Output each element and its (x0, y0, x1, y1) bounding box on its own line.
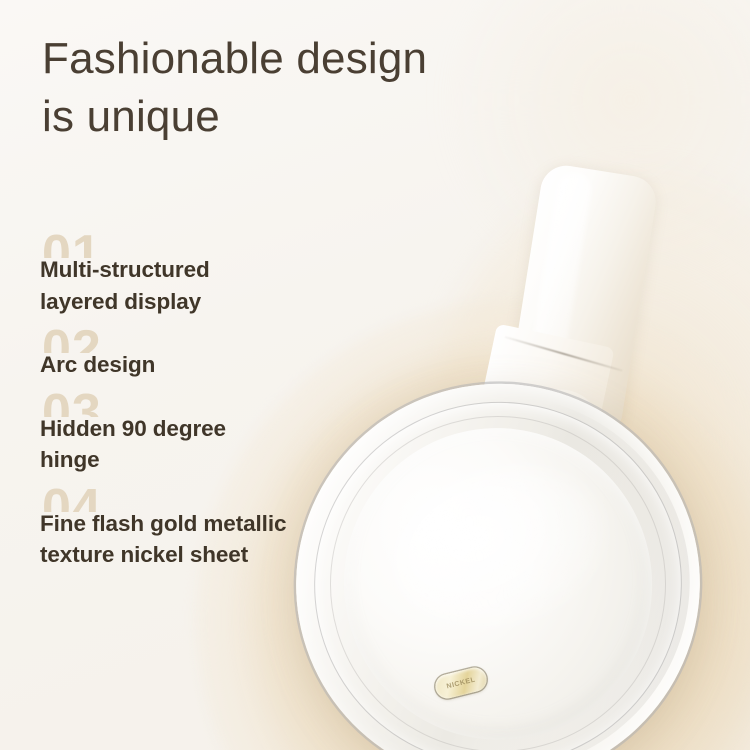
feature-text-03: Hidden 90 degree hinge (40, 387, 370, 476)
product-feature-poster: NICKEL Fashionable design is unique 01 M… (0, 0, 750, 750)
feature-item-04: 04 Fine flash gold metallic texture nick… (40, 482, 370, 571)
feature-item-01: 01 Multi-structured layered display (40, 228, 370, 317)
feature-text-04: Fine flash gold metallic texture nickel … (40, 482, 370, 571)
feature-list: 01 Multi-structured layered display 02 A… (40, 228, 370, 571)
feature-item-03: 03 Hidden 90 degree hinge (40, 387, 370, 476)
feature-text-02: Arc design (40, 323, 370, 381)
page-title: Fashionable design is unique (42, 30, 562, 146)
feature-text-01: Multi-structured layered display (40, 228, 370, 317)
feature-item-02: 02 Arc design (40, 323, 370, 381)
